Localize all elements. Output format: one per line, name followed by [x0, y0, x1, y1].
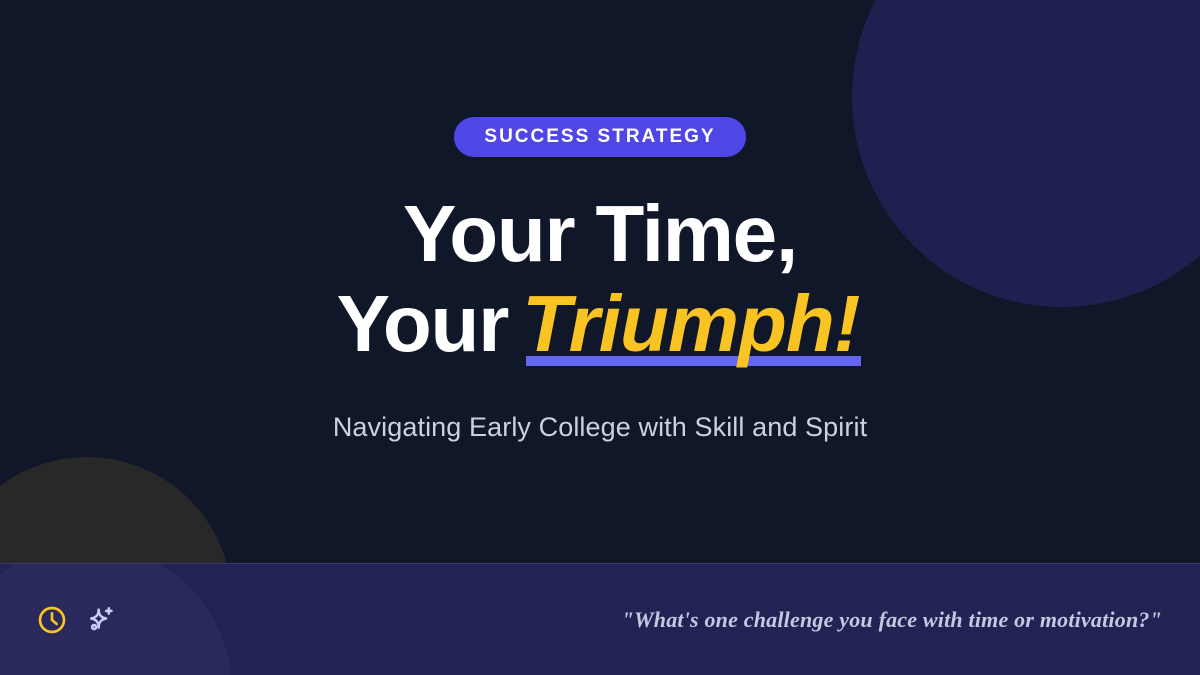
sparkles-icon[interactable]	[84, 604, 116, 636]
title-line-2: YourTriumph!	[337, 277, 864, 371]
title-line-1: Your Time,	[337, 187, 864, 281]
title-line-2-prefix: Your	[337, 279, 509, 368]
page-subtitle: Navigating Early College with Skill and …	[333, 412, 867, 443]
page-title: Your Time, YourTriumph!	[337, 187, 864, 372]
footer-glow-circle	[0, 563, 232, 675]
title-accent-group: Triumph!	[522, 277, 863, 371]
clock-icon[interactable]	[36, 604, 68, 636]
title-accent-word: Triumph!	[522, 279, 863, 368]
slide-content: SUCCESS STRATEGY Your Time, YourTriumph!…	[0, 0, 1200, 563]
status-badge: SUCCESS STRATEGY	[454, 117, 745, 157]
slide-footer: "What's one challenge you face with time…	[0, 563, 1200, 675]
footer-icon-group	[36, 604, 116, 636]
footer-quote: "What's one challenge you face with time…	[622, 607, 1162, 633]
presentation-slide: SUCCESS STRATEGY Your Time, YourTriumph!…	[0, 0, 1200, 675]
